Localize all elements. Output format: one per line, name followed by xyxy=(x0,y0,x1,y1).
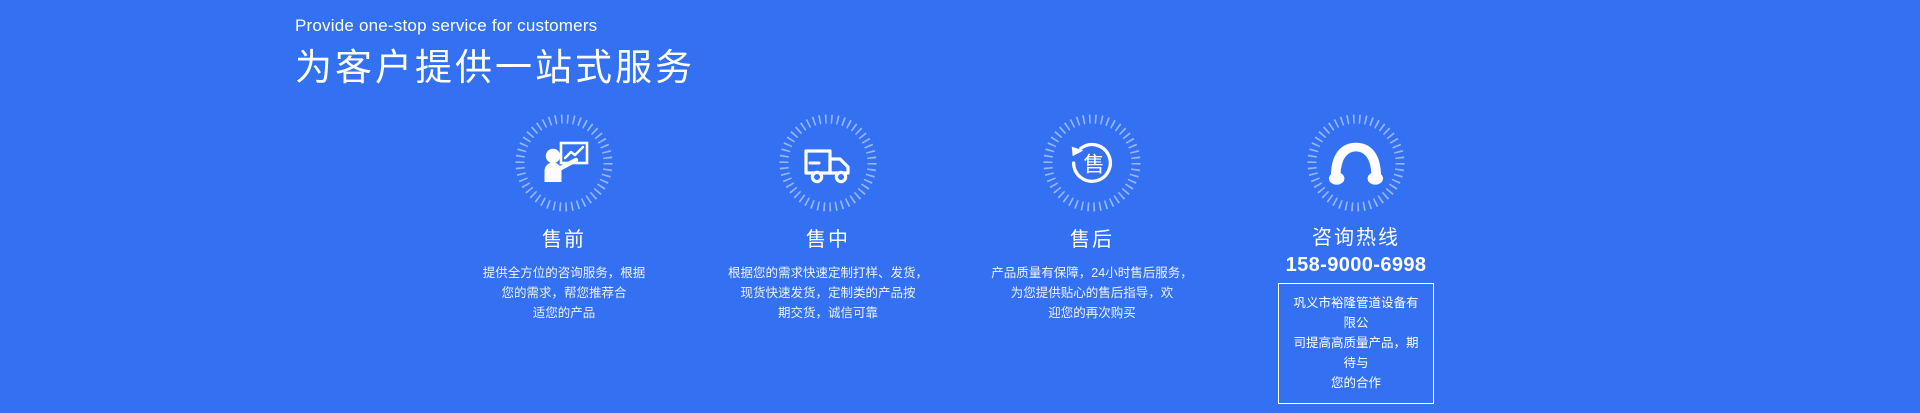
desc-line: 适您的产品 xyxy=(483,303,646,323)
hotline-title: 咨询热线 xyxy=(1312,226,1400,250)
company-info-box: 巩义市裕隆管道设备有限公 司提高高质量产品，期待与 您的合作 xyxy=(1278,283,1434,404)
service-column-hotline[interactable]: 咨询热线 158-9000-6998 巩义市裕隆管道设备有限公 司提高高质量产品… xyxy=(1231,112,1481,404)
service-column-insale[interactable]: 售中 根据您的需求快速定制打样、发货， 现货快速发货，定制类的产品按 期交货，诚… xyxy=(703,112,953,404)
delivery-truck-icon xyxy=(800,135,856,191)
column-title: 售中 xyxy=(806,228,850,252)
column-description: 提供全方位的咨询服务，根据 您的需求，帮您推荐合 适您的产品 xyxy=(483,263,646,323)
presenter-whiteboard-icon xyxy=(536,135,592,191)
icon-wrap-aftersale: 售 xyxy=(1041,112,1143,214)
icon-wrap-insale xyxy=(777,112,879,214)
desc-line: 为您提供贴心的售后指导，欢 xyxy=(991,283,1192,303)
desc-line: 期交货，诚信可靠 xyxy=(728,303,928,323)
service-columns: 售前 提供全方位的咨询服务，根据 您的需求，帮您推荐合 适您的产品 xyxy=(0,112,1920,404)
company-line: 巩义市裕隆管道设备有限公 xyxy=(1293,293,1419,333)
column-description: 根据您的需求快速定制打样、发货， 现货快速发货，定制类的产品按 期交货，诚信可靠 xyxy=(728,263,928,323)
page-title: 为客户提供一站式服务 xyxy=(295,45,695,91)
after-sales-return-icon: 售 xyxy=(1064,135,1120,191)
desc-line: 提供全方位的咨询服务，根据 xyxy=(483,263,646,283)
column-title: 售后 xyxy=(1070,228,1114,252)
desc-line: 现货快速发货，定制类的产品按 xyxy=(728,283,928,303)
svg-text:售: 售 xyxy=(1083,153,1104,177)
telephone-icon xyxy=(1328,135,1384,191)
icon-wrap-presale xyxy=(513,112,615,214)
icon-wrap-hotline xyxy=(1305,112,1407,214)
service-column-presale[interactable]: 售前 提供全方位的咨询服务，根据 您的需求，帮您推荐合 适您的产品 xyxy=(439,112,689,404)
desc-line: 根据您的需求快速定制打样、发货， xyxy=(728,263,928,283)
heading-block: Provide one-stop service for customers 为… xyxy=(295,16,695,92)
desc-line: 您的需求，帮您推荐合 xyxy=(483,283,646,303)
desc-line: 产品质量有保障，24小时售后服务， xyxy=(991,263,1192,283)
hotline-number[interactable]: 158-9000-6998 xyxy=(1286,253,1427,278)
company-line: 司提高高质量产品，期待与 xyxy=(1293,333,1419,373)
service-column-aftersale[interactable]: 售 售后 产品质量有保障，24小时售后服务， 为您提供贴心的售后指导，欢 迎您的… xyxy=(967,112,1217,404)
heading-eyebrow: Provide one-stop service for customers xyxy=(295,16,695,36)
company-line: 您的合作 xyxy=(1293,373,1419,393)
column-description: 产品质量有保障，24小时售后服务， 为您提供贴心的售后指导，欢 迎您的再次购买 xyxy=(991,263,1192,323)
column-title: 售前 xyxy=(542,228,586,252)
desc-line: 迎您的再次购买 xyxy=(991,303,1192,323)
service-banner: Provide one-stop service for customers 为… xyxy=(0,0,1920,413)
